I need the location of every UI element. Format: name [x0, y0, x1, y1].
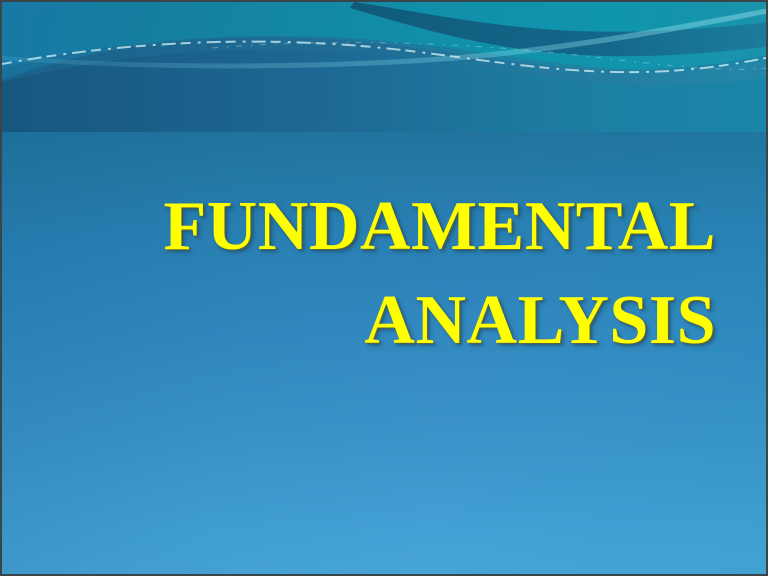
- background-wave-decoration: [2, 2, 768, 132]
- slide-title: FUNDAMENTAL ANALYSIS: [60, 180, 716, 368]
- title-line-1: FUNDAMENTAL: [60, 180, 716, 274]
- title-line-2: ANALYSIS: [60, 274, 716, 368]
- wave-svg: [2, 2, 768, 132]
- presentation-slide: FUNDAMENTAL ANALYSIS: [0, 0, 768, 576]
